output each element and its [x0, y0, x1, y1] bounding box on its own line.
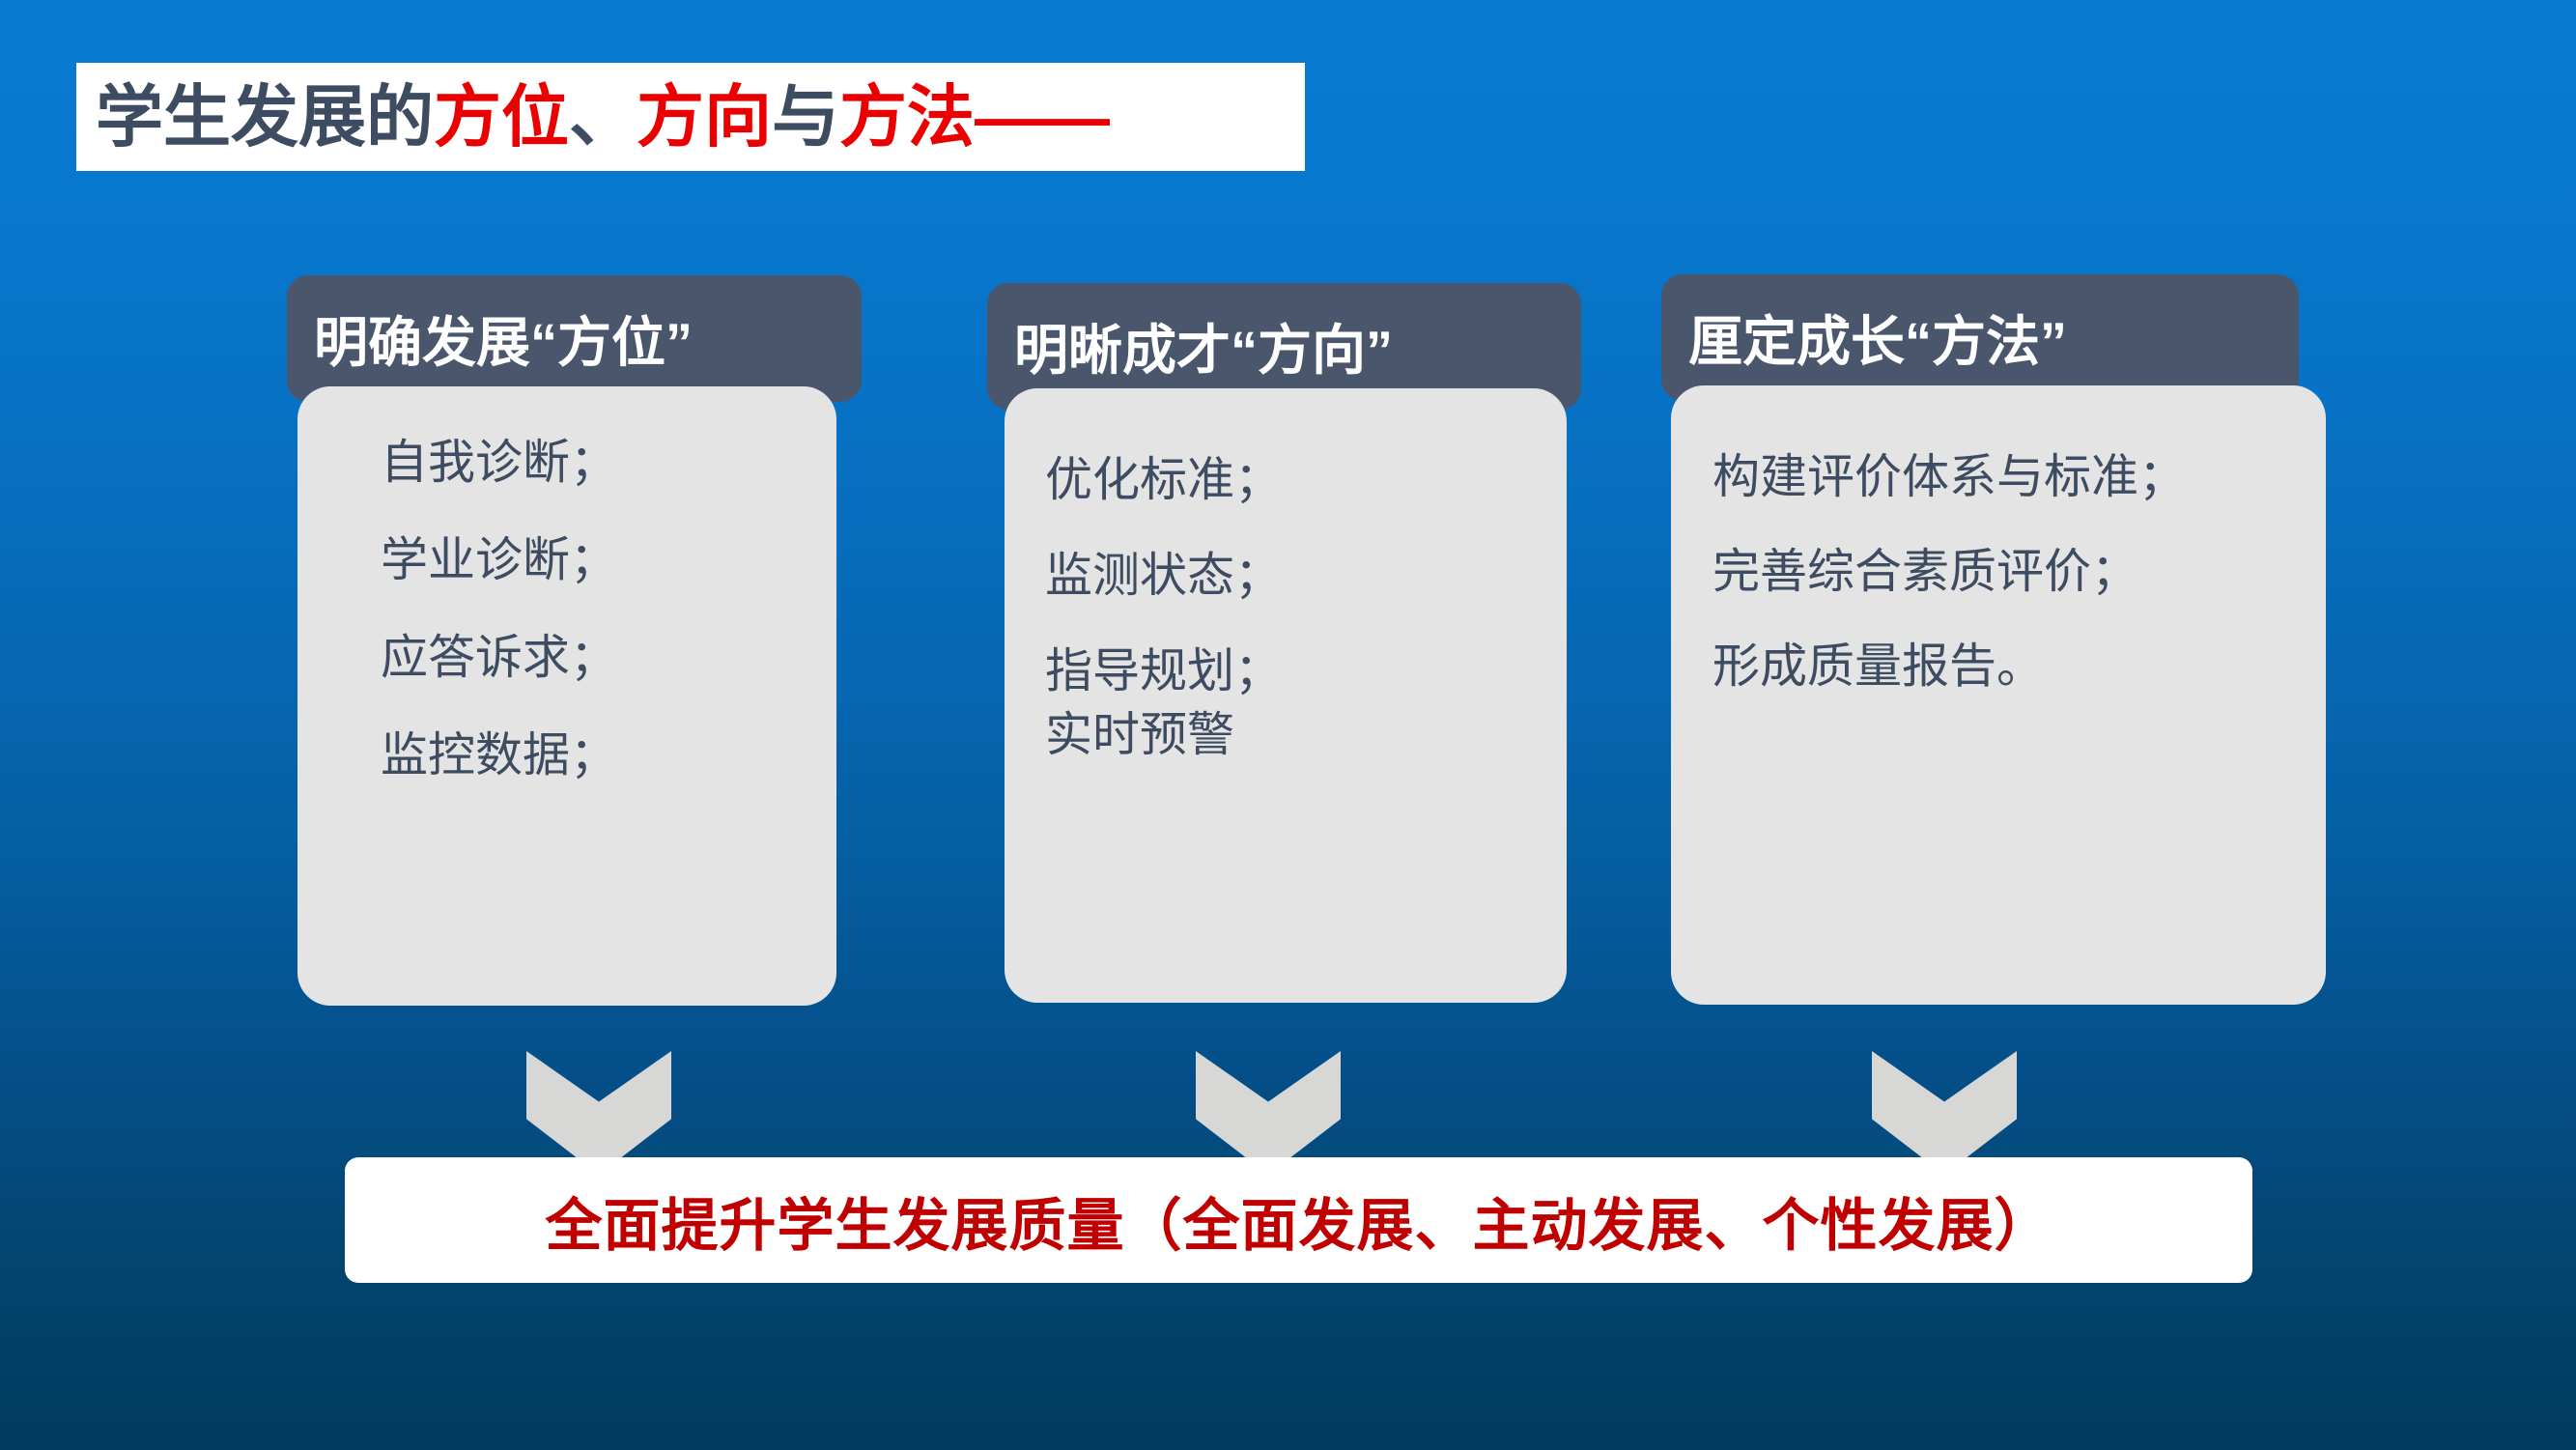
title-segment-2: 、: [569, 79, 637, 155]
column-line: 指导规划；: [1045, 640, 1567, 703]
column-group-1: 明确发展“方位” 自我诊断； 学业诊断； 应答诉求； 监控数据；: [287, 275, 862, 1006]
column-header-label-2: 明晰成才“方向”: [1014, 307, 1393, 385]
title-segment-1: 方位: [434, 79, 569, 155]
column-group-3: 厘定成长“方法” 构建评价体系与标准； 完善综合素质评价； 形成质量报告。: [1661, 274, 2299, 1005]
title-plate: 学生发展的方位、方向与方法——: [76, 63, 1305, 171]
column-line: 应答诉求；: [381, 626, 836, 690]
column-line: 构建评价体系与标准；: [1713, 445, 2326, 509]
chevron-down-icon: [1872, 1051, 2017, 1175]
column-line: 学业诊断；: [381, 528, 836, 592]
chevron-down-icon: [1196, 1051, 1341, 1175]
bottom-banner: 全面提升学生发展质量（全面发展、主动发展、个性发展）: [345, 1157, 2252, 1283]
column-line: 监测状态；: [1045, 544, 1567, 608]
column-line: 优化标准；: [1045, 448, 1567, 512]
column-line: 形成质量报告。: [1713, 635, 2326, 698]
page-title: 学生发展的方位、方向与方法——: [96, 83, 1110, 151]
column-line: 自我诊断；: [381, 431, 836, 495]
title-segment-0: 学生发展的: [96, 79, 434, 155]
column-line: 监控数据；: [381, 724, 836, 787]
column-header-label-1: 明确发展“方位”: [314, 299, 693, 378]
bottom-banner-label: 全面提升学生发展质量（全面发展、主动发展、个性发展）: [545, 1180, 2052, 1262]
slide-canvas: 学生发展的方位、方向与方法—— 明确发展“方位” 自我诊断； 学业诊断； 应答诉…: [0, 0, 2576, 1450]
column-body-1: 自我诊断； 学业诊断； 应答诉求； 监控数据；: [297, 386, 836, 1006]
column-header-3: 厘定成长“方法”: [1661, 274, 2299, 401]
title-segment-4: 与: [772, 79, 839, 155]
title-segment-5: 方法——: [839, 79, 1110, 155]
title-segment-3: 方向: [637, 79, 772, 155]
column-group-2: 明晰成才“方向” 优化标准； 监测状态； 指导规划； 实时预警: [987, 283, 1581, 1003]
column-body-2: 优化标准； 监测状态； 指导规划； 实时预警: [1005, 388, 1567, 1003]
column-body-3: 构建评价体系与标准； 完善综合素质评价； 形成质量报告。: [1671, 385, 2326, 1005]
column-header-1: 明确发展“方位”: [287, 275, 862, 402]
column-line: 实时预警: [1045, 703, 1567, 767]
column-line: 完善综合素质评价；: [1713, 540, 2326, 604]
column-header-label-3: 厘定成长“方法”: [1688, 299, 2067, 377]
chevron-down-icon: [526, 1051, 671, 1175]
